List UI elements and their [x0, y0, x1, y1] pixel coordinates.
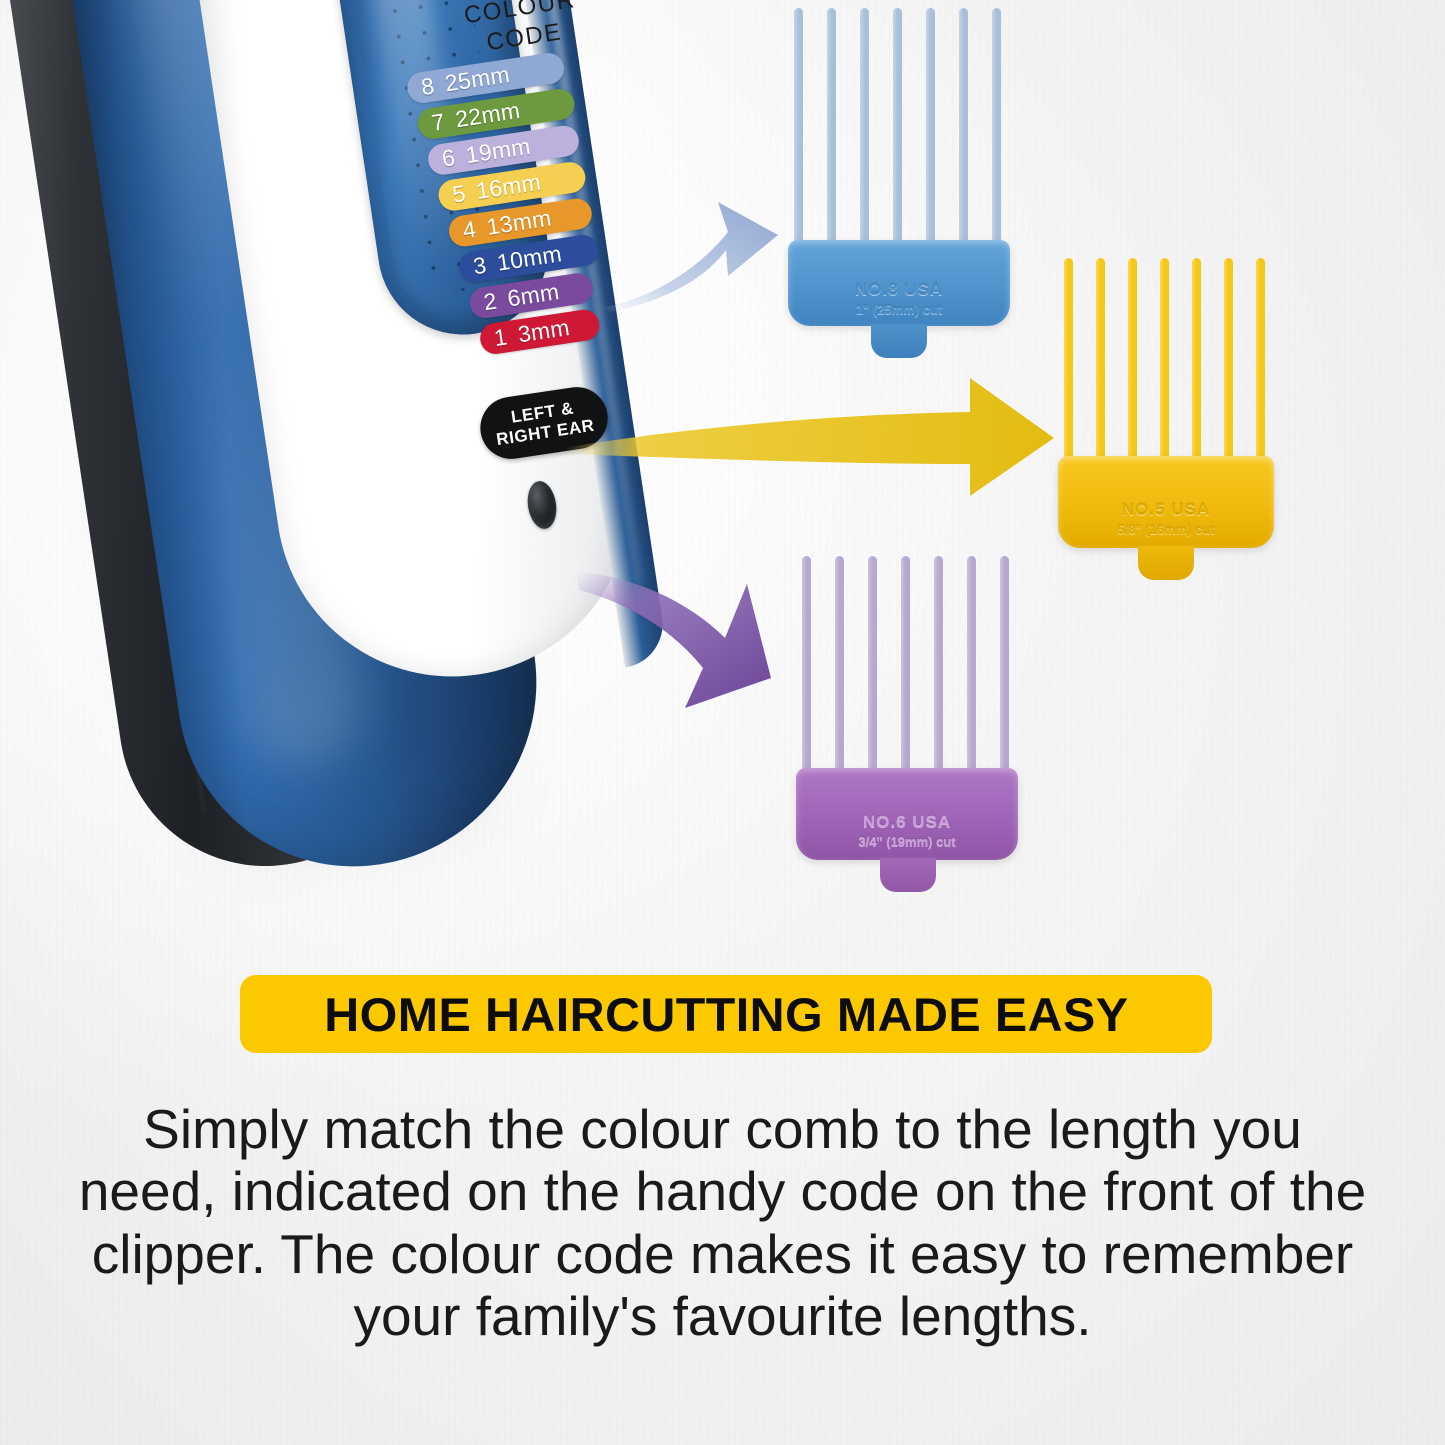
guide-comb-no6: NO.6 USA 3/4" (19mm) cut	[796, 556, 1018, 904]
comb-body: NO.6 USA 3/4" (19mm) cut	[796, 768, 1018, 860]
comb-emboss-line1: NO.5 USA	[1058, 500, 1274, 520]
colour-code-number: 5	[451, 180, 468, 209]
comb-tooth	[802, 556, 811, 800]
comb-tooth	[1192, 258, 1201, 484]
comb-emboss-line1: NO.8 USA	[788, 280, 1010, 300]
arrow-to-yellow-comb	[560, 372, 1060, 502]
comb-tooth	[835, 556, 844, 800]
comb-tooth	[1224, 258, 1233, 484]
colour-code-number: 2	[482, 288, 499, 317]
comb-tooth	[1064, 258, 1073, 484]
colour-code-length: 6mm	[506, 278, 561, 312]
colour-code-number: 8	[419, 72, 436, 101]
comb-tooth	[860, 8, 869, 268]
guide-comb-no8: NO.8 USA 1" (25mm) cut	[788, 8, 1010, 358]
colour-code-length: 25mm	[443, 61, 511, 97]
comb-tooth	[1160, 258, 1169, 484]
colour-code-number: 3	[471, 252, 488, 281]
marketing-image: COLOUR CODE 825mm722mm619mm516mm413mm310…	[0, 0, 1445, 1445]
comb-tooth	[934, 556, 943, 800]
comb-emboss-line2: 1" (25mm) cut	[788, 302, 1010, 317]
comb-tooth	[959, 8, 968, 268]
comb-emboss-line1: NO.6 USA	[796, 812, 1018, 832]
colour-code-length: 19mm	[464, 133, 532, 169]
colour-code-length: 13mm	[485, 205, 553, 241]
comb-tooth	[868, 556, 877, 800]
headline-banner: HOME HAIRCUTTING MADE EASY	[240, 975, 1212, 1053]
colour-code-length: 10mm	[495, 240, 563, 276]
colour-code-number: 4	[461, 216, 478, 245]
comb-mount-tab	[871, 324, 927, 358]
comb-mount-tab	[1138, 546, 1194, 580]
comb-tooth	[1000, 556, 1009, 800]
comb-tooth	[1096, 258, 1105, 484]
comb-body: NO.8 USA 1" (25mm) cut	[788, 240, 1010, 326]
colour-code-length: 22mm	[454, 97, 522, 133]
comb-tooth	[992, 8, 1001, 268]
description-paragraph: Simply match the colour comb to the leng…	[70, 1098, 1375, 1348]
comb-body: NO.5 USA 5/8" (16mm) cut	[1058, 456, 1274, 548]
comb-emboss-line2: 5/8" (16mm) cut	[1058, 522, 1274, 537]
comb-tooth	[1256, 258, 1265, 484]
comb-mount-tab	[880, 858, 936, 892]
comb-tooth	[794, 8, 803, 268]
comb-tooth	[967, 556, 976, 800]
comb-tooth	[893, 8, 902, 268]
arrow-to-purple-comb	[575, 556, 815, 716]
guide-comb-no5: NO.5 USA 5/8" (16mm) cut	[1058, 258, 1274, 604]
colour-code-length: 16mm	[474, 169, 542, 205]
comb-tooth	[1128, 258, 1137, 484]
colour-code-number: 1	[492, 323, 509, 352]
comb-tooth	[901, 556, 910, 800]
comb-tooth	[827, 8, 836, 268]
headline-text: HOME HAIRCUTTING MADE EASY	[324, 987, 1128, 1042]
colour-code-number: 6	[440, 144, 457, 173]
colour-code-number: 7	[430, 108, 447, 137]
comb-emboss-line2: 3/4" (19mm) cut	[796, 834, 1018, 849]
comb-tooth	[926, 8, 935, 268]
colour-code-length: 3mm	[516, 314, 571, 348]
